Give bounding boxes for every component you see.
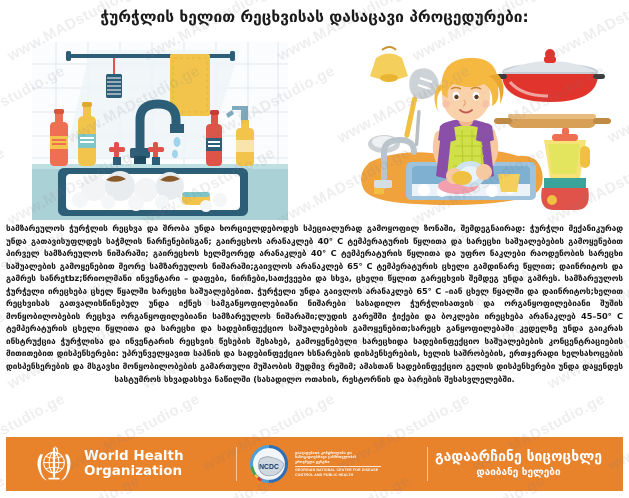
poster-root: ჭურჭლის ხელით რეცხვისას დასაცავი პროცედუ…: [0, 0, 629, 498]
ncdc-emblem-icon: NCDC: [249, 444, 289, 484]
who-line-2: Organization: [84, 463, 182, 479]
poster-header: ჭურჭლის ხელით რეცხვისას დასაცავი პროცედუ…: [0, 8, 629, 27]
body-copy: სამზარეულოს ჭურჭლის რეცხვა და შრობა უნდა…: [6, 222, 623, 385]
ncdc-english-line-2: CONTROL AND PUBLIC HEALTH: [295, 473, 381, 478]
page-title: ჭურჭლის ხელით რეცხვისას დასაცავი პროცედუ…: [0, 8, 629, 27]
ncdc-georgian-line-3: ეროვნული ცენტრი: [295, 460, 381, 465]
who-logo-block: World Health Organization: [6, 442, 236, 486]
poster-footer: World Health Organization NCDC დაავადება…: [6, 437, 623, 491]
illustration-row: [0, 40, 629, 225]
who-wordmark: World Health Organization: [84, 449, 184, 479]
who-emblem-icon: [32, 442, 76, 486]
ncdc-logo-block: NCDC დაავადებათა კონტროლისა და საზოგადოე…: [237, 444, 427, 484]
woman-washing-dishes-illustration: [312, 40, 624, 222]
ncdc-rule: [295, 466, 381, 467]
body-paragraph: სამზარეულოს ჭურჭლის რეცხვა და შრობა უნდა…: [6, 222, 623, 385]
slogan-line-2: დაიბანე ხელები: [428, 466, 609, 479]
svg-text:NCDC: NCDC: [259, 464, 279, 471]
ncdc-wordmark: დაავადებათა კონტროლისა და საზოგადოებრივი…: [295, 451, 381, 478]
kitchen-sink-illustration: [10, 40, 310, 222]
who-line-1: World Health: [84, 448, 184, 464]
slogan-line-1: გადაარჩინე სიცოცხლე: [428, 449, 609, 466]
footer-slogan: გადაარჩინე სიცოცხლე დაიბანე ხელები: [428, 449, 623, 479]
